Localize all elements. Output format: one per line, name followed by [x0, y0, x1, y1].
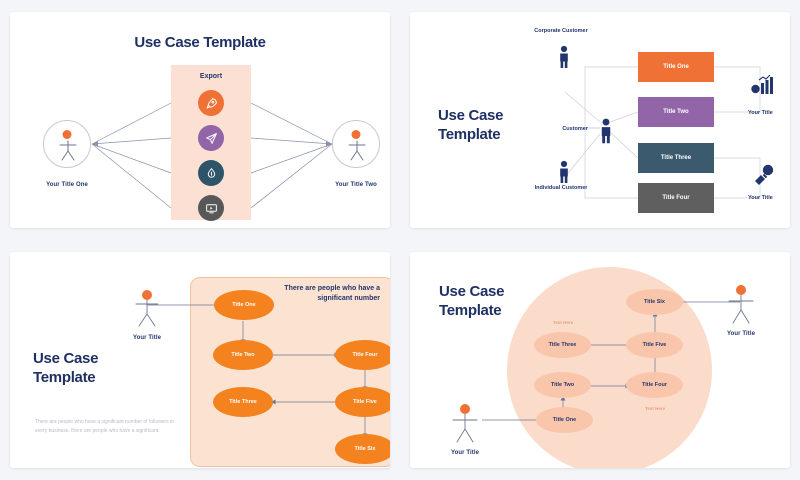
customer-label: Customer	[538, 126, 588, 133]
node-title-three[interactable]: Title Three	[534, 332, 591, 358]
node-title-one[interactable]: Title One	[536, 407, 593, 433]
node-title-five[interactable]: Title Five	[626, 332, 683, 358]
slide-grid: Use Case Template Export	[0, 0, 800, 480]
side-label-two: Your Title	[748, 195, 773, 201]
node-title-four[interactable]: Title Four	[335, 340, 390, 370]
actor-left-label: Your Title One	[28, 182, 106, 188]
node-title-six[interactable]: Title Six	[335, 434, 390, 464]
slide-4-wrapper: Use Case Template Text Here Text Here	[400, 240, 800, 480]
actor-top-right[interactable]	[723, 285, 759, 327]
stick-figure	[44, 121, 92, 169]
node-title-two[interactable]: Title Two	[534, 372, 591, 398]
slide-1[interactable]: Use Case Template Export	[10, 12, 390, 228]
bar-title-four[interactable]: Title Four	[638, 183, 714, 213]
node-title-six[interactable]: Title Six	[626, 289, 683, 315]
bar-title-three[interactable]: Title Three	[638, 143, 714, 173]
slide-1-wrapper: Use Case Template Export	[0, 0, 400, 240]
slide-2-wrapper: Use Case Template Corporate Customer	[400, 0, 800, 240]
customer-icon[interactable]	[596, 117, 616, 145]
rocket-icon[interactable]	[198, 90, 224, 116]
node-title-four[interactable]: Title Four	[626, 372, 683, 398]
actor-left[interactable]	[43, 120, 91, 168]
paper-plane-icon[interactable]	[198, 125, 224, 151]
node-title-five[interactable]: Title Five	[335, 387, 390, 417]
slide-2[interactable]: Use Case Template Corporate Customer	[410, 12, 790, 228]
bar-title-two[interactable]: Title Two	[638, 97, 714, 127]
slide-4[interactable]: Use Case Template Text Here Text Here	[410, 252, 790, 468]
individual-customer-icon[interactable]	[555, 160, 573, 184]
slide-3[interactable]: There are people who have a significant …	[10, 252, 390, 468]
actor-bottom-left[interactable]	[447, 404, 483, 446]
slide-3-wrapper: There are people who have a significant …	[0, 240, 400, 480]
corporate-customer-label: Corporate Customer	[531, 28, 591, 35]
bar-title-one[interactable]: Title One	[638, 52, 714, 82]
node-title-one[interactable]: Title One	[214, 290, 274, 320]
actor-right[interactable]	[332, 120, 380, 168]
actor-top-right-label: Your Title	[711, 331, 771, 337]
corporate-customer-icon[interactable]	[555, 45, 573, 69]
actor-head	[736, 285, 746, 295]
actor-bottom-left-label: Your Title	[435, 450, 495, 456]
side-label-one: Your Title	[748, 110, 773, 116]
monitor-icon[interactable]	[198, 195, 224, 221]
slide-3-connectors	[10, 252, 390, 468]
export-group: Export	[171, 65, 251, 220]
megaphone-icon[interactable]	[752, 164, 776, 186]
bar-chart-icon[interactable]	[750, 74, 776, 96]
individual-customer-label: Individual Customer	[531, 185, 591, 192]
stick-figure	[333, 121, 381, 169]
actor-right-label: Your Title Two	[317, 182, 390, 188]
node-title-three[interactable]: Title Three	[213, 387, 273, 417]
node-title-two[interactable]: Title Two	[213, 340, 273, 370]
actor-head	[460, 404, 470, 414]
export-label: Export	[171, 73, 251, 80]
droplet-icon[interactable]	[198, 160, 224, 186]
